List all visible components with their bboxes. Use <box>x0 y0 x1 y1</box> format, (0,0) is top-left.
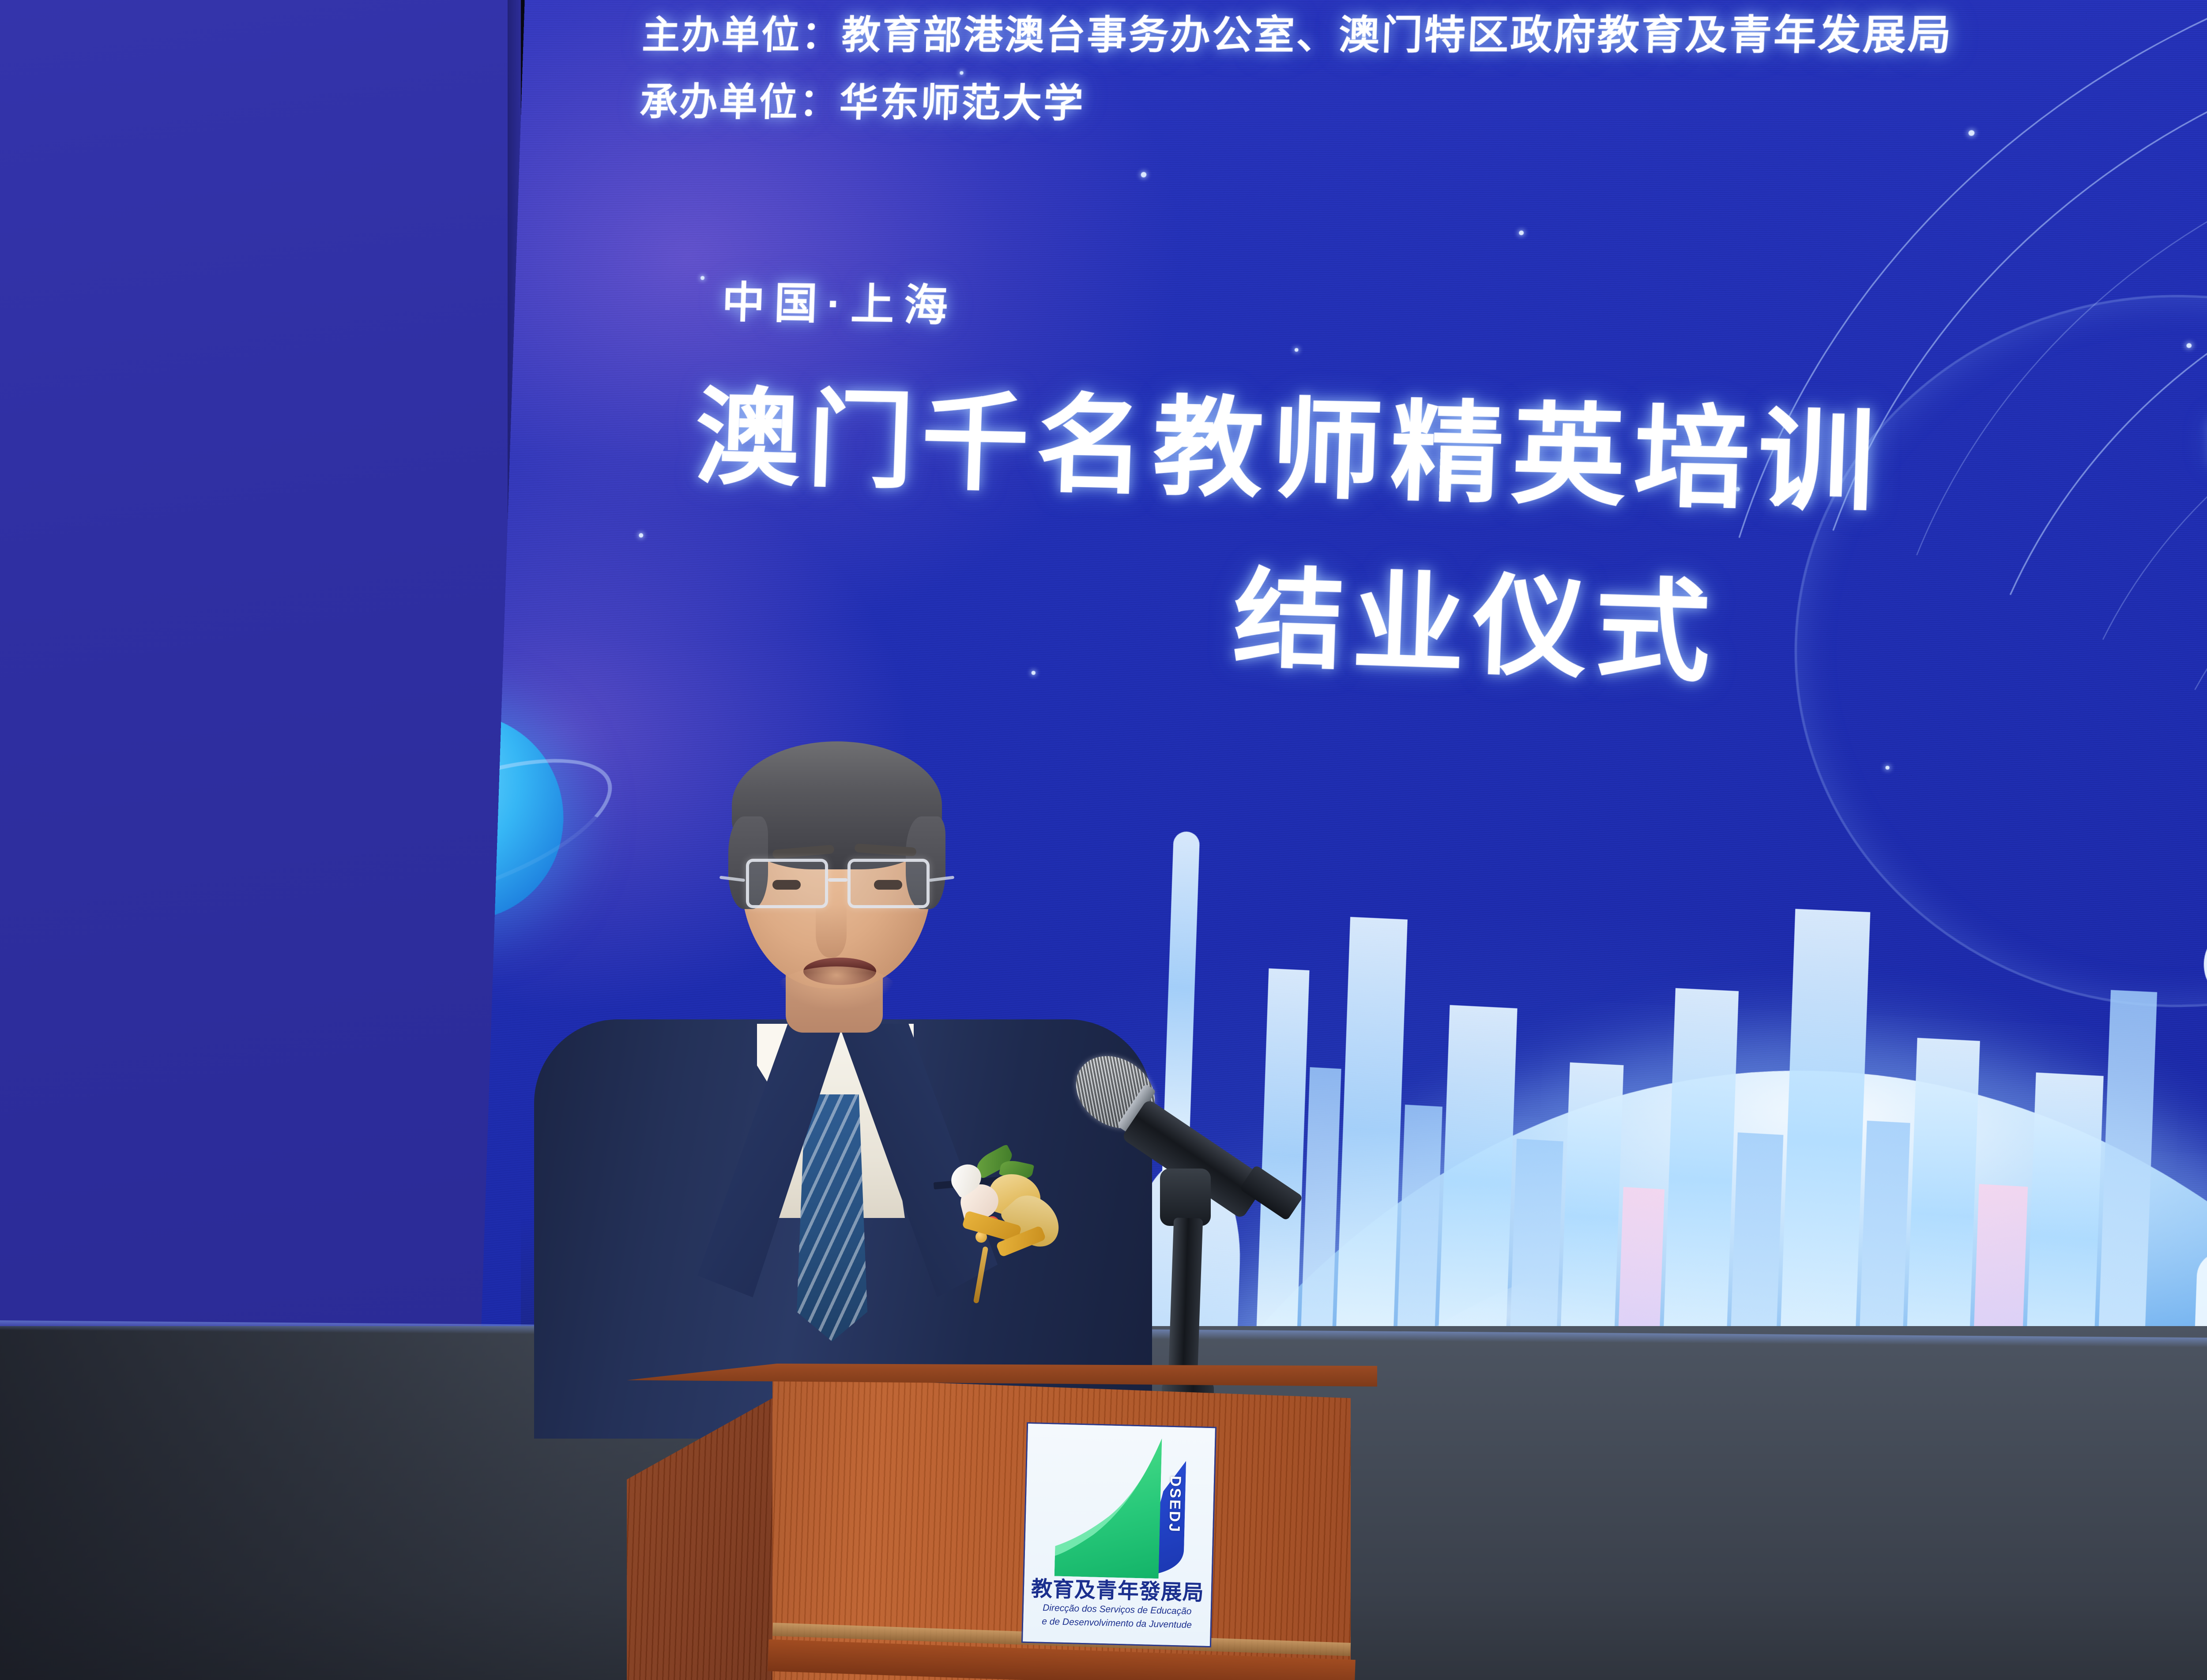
lens-right <box>847 859 930 908</box>
sponsor-line: 主办单位：教育部港澳台事务办公室、澳门特区政府教育及青年发展局 <box>641 1 1954 61</box>
podium-top <box>627 1364 1377 1387</box>
dsedj-logo-panel: DSEDJ 教育及青年發展局 Direcção dos Serviços de … <box>1021 1422 1216 1647</box>
microphone-clip <box>1160 1169 1211 1226</box>
podium: DSEDJ 教育及青年發展局 Direcção dos Serviços de … <box>627 1364 1377 1680</box>
organizer-line: 承办单位：华东师范大学 <box>639 71 1086 128</box>
left-wall <box>0 0 521 1359</box>
event-title-line2: 结业仪式 <box>1231 531 1721 704</box>
glasses-bridge <box>828 878 847 882</box>
chin <box>777 966 896 1011</box>
logo-acronym: DSEDJ <box>1165 1476 1184 1533</box>
speaker <box>596 715 1090 1430</box>
logo-name-portuguese-line2: e de Desenvolvimento da Juventude <box>1038 1616 1195 1631</box>
logo-name-chinese: 教育及青年發展局 <box>1031 1578 1204 1605</box>
dsedj-logo-mark: DSEDJ <box>1052 1432 1188 1581</box>
event-title-line1: 澳门千名教师精英培训 <box>693 352 1887 534</box>
lens-left <box>746 859 828 908</box>
nose <box>816 905 847 958</box>
logo-name-portuguese-line1: Direcção dos Serviços de Educação <box>1039 1602 1195 1618</box>
eyeglasses <box>738 855 938 913</box>
location-line: 中国·上海 <box>721 267 959 333</box>
stage-scene: 主办单位：教育部港澳台事务办公室、澳门特区政府教育及青年发展局 承办单位：华东师… <box>0 0 2207 1680</box>
flower-corsage <box>923 1152 1068 1297</box>
logo-green-shape <box>1055 1436 1164 1579</box>
